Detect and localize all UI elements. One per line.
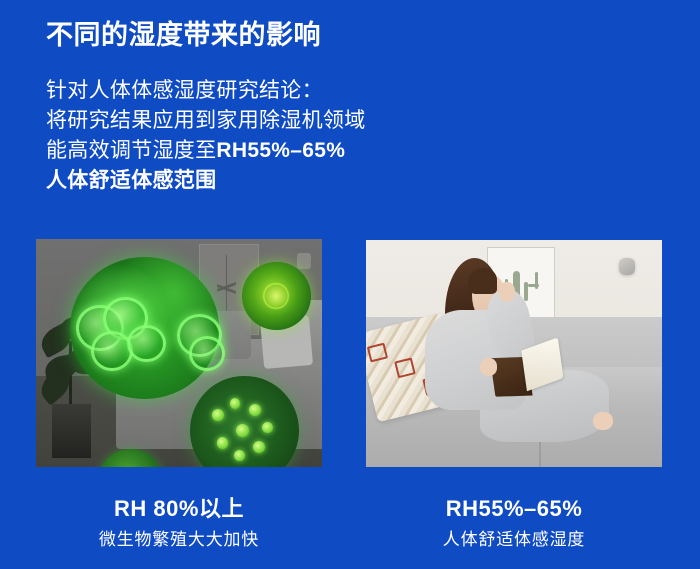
caption-subtitle: 微生物繁殖大大加快	[36, 528, 322, 552]
microbe-core	[265, 285, 287, 307]
caption-title: RH 80%以上	[36, 495, 322, 523]
humidity-range-highlight: RH55%–65%	[216, 139, 345, 162]
woman-hair-front	[468, 268, 497, 294]
microbe-dot	[212, 409, 224, 421]
pillow-motif	[367, 342, 389, 363]
book-page-right	[521, 337, 563, 391]
wall-switch-icon	[297, 253, 311, 269]
plant-pot	[52, 404, 91, 458]
woman-hand-holding-book	[480, 358, 498, 376]
caption-high-humidity: RH 80%以上 微生物繁殖大大加快	[36, 495, 322, 552]
microbe-dot	[236, 424, 249, 437]
description-line-4: 人体舒适体感范围	[46, 166, 466, 196]
description-line-3-prefix: 能高效调节湿度至	[46, 139, 216, 162]
woman-reading	[413, 258, 608, 458]
microbe-dot	[230, 398, 241, 409]
description-block: 针对人体体感湿度研究结论： 将研究结果应用到家用除湿机领域 能高效调节湿度至RH…	[46, 76, 466, 196]
microbe-dot	[262, 422, 273, 433]
microbe-cluster-large	[70, 257, 219, 398]
dark-room-scene	[36, 239, 322, 467]
woman-hand-at-head	[499, 282, 515, 302]
microbe-cell	[127, 325, 166, 362]
light-room-scene	[366, 240, 662, 467]
humidity-comparison-poster: 不同的湿度带来的影响 针对人体体感湿度研究结论： 将研究结果应用到家用除湿机领域…	[0, 0, 700, 569]
description-line-2: 将研究结果应用到家用除湿机领域	[46, 106, 466, 136]
microbe-spiky-small	[242, 262, 311, 330]
open-book	[489, 341, 565, 398]
caption-subtitle: 人体舒适体感湿度	[366, 528, 662, 552]
photo-comfort-humidity	[366, 240, 662, 467]
microbe-dot	[217, 437, 229, 449]
microbe-dot	[234, 450, 245, 461]
photo-high-humidity	[36, 239, 322, 467]
microbe-dot	[253, 441, 265, 453]
microbe-dot	[249, 404, 261, 416]
wall-thermostat-icon	[619, 258, 635, 275]
description-line-3: 能高效调节湿度至RH55%–65%	[46, 136, 466, 166]
caption-comfort-humidity: RH55%–65% 人体舒适体感湿度	[366, 495, 662, 552]
page-title: 不同的湿度带来的影响	[46, 18, 321, 52]
description-line-1: 针对人体体感湿度研究结论：	[46, 76, 466, 106]
microbe-cell	[91, 331, 133, 371]
microbe-cell	[189, 336, 225, 370]
caption-title: RH55%–65%	[366, 495, 662, 523]
woman-foot	[593, 412, 613, 430]
